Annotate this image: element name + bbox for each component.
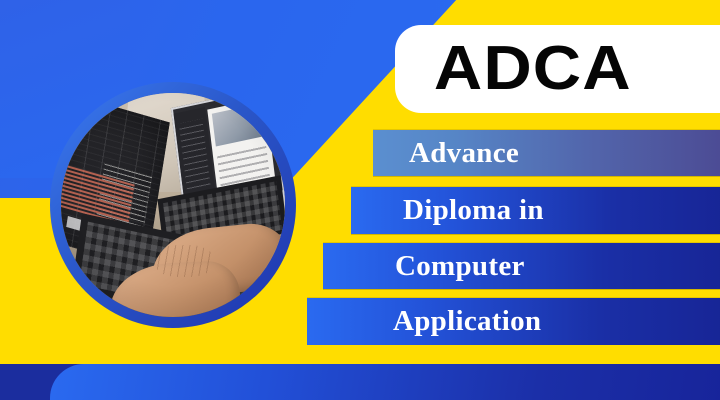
- subtitle-line-4: Application: [393, 307, 541, 336]
- subtitle-bar-application: Application: [307, 298, 720, 345]
- background-bottom-blue-pill: [50, 364, 720, 400]
- photo-circle: [61, 93, 285, 317]
- background-bottom-yellow-strip: [0, 345, 720, 364]
- subtitle-bar-computer: Computer: [323, 243, 720, 289]
- poster-canvas: ADCA Advance Diploma in Computer Applica…: [0, 0, 720, 400]
- photo-ring: [50, 82, 296, 328]
- subtitle-line-3: Computer: [395, 252, 525, 281]
- subtitle-line-2: Diploma in: [403, 196, 544, 225]
- photo-fingers: [155, 245, 213, 276]
- subtitle-bar-diploma-in: Diploma in: [351, 187, 720, 234]
- subtitle-line-1: Advance: [409, 139, 519, 168]
- title-plate: ADCA: [395, 25, 720, 113]
- poster-title: ADCA: [395, 38, 632, 100]
- subtitle-bar-advance: Advance: [373, 130, 720, 176]
